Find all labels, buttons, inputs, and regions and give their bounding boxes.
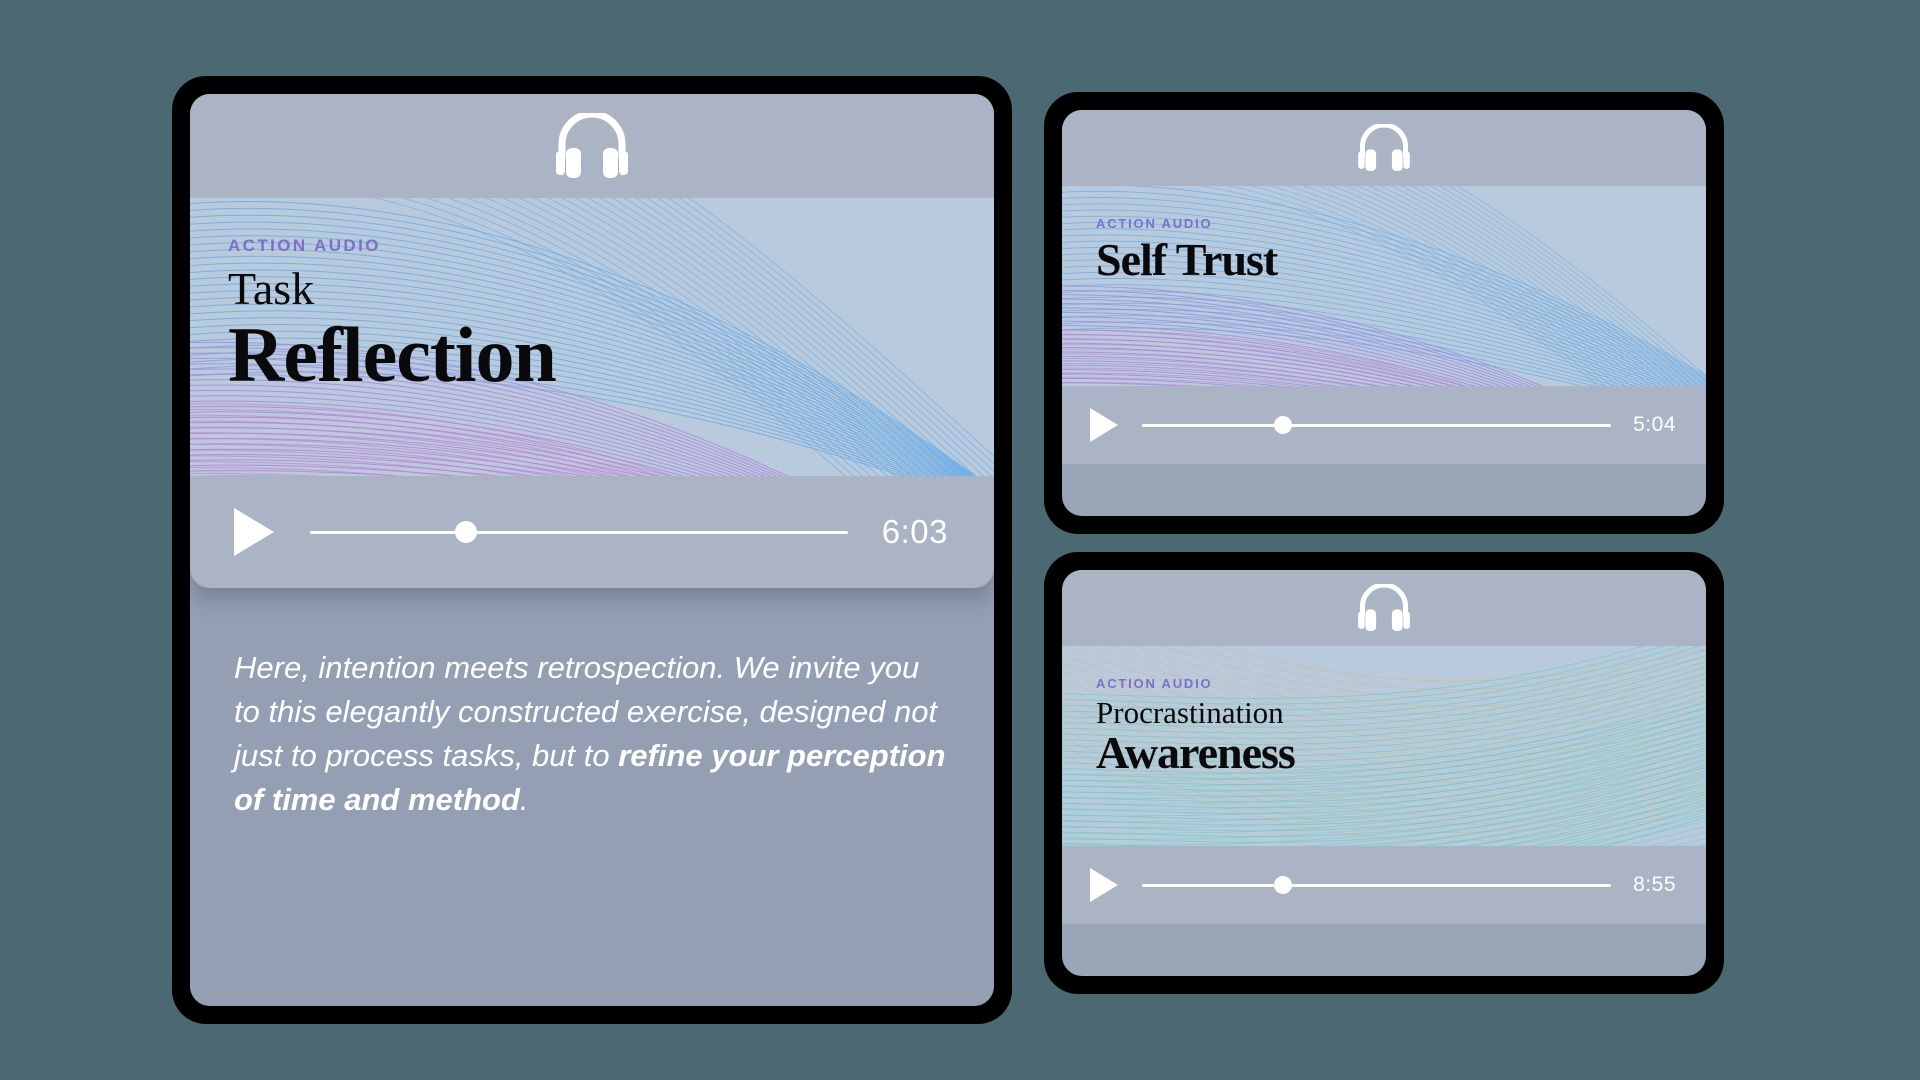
card-header-strip bbox=[1062, 110, 1706, 186]
headphones-icon bbox=[1356, 584, 1412, 632]
card-title-top: Task bbox=[228, 266, 556, 312]
card-title-main: Awareness bbox=[1096, 730, 1295, 776]
description-tail: . bbox=[520, 782, 529, 817]
play-icon[interactable] bbox=[1090, 868, 1118, 902]
duration-label: 5:04 bbox=[1633, 413, 1676, 437]
headphones-icon bbox=[553, 113, 631, 179]
card-title-main: Self Trust bbox=[1096, 237, 1277, 283]
audio-player-controls[interactable]: 6:03 bbox=[190, 476, 994, 588]
card-artwork: ACTION AUDIO Self Trust bbox=[1062, 186, 1706, 386]
card-header-strip bbox=[1062, 570, 1706, 646]
card-eyebrow: ACTION AUDIO bbox=[228, 236, 556, 256]
progress-track-line bbox=[1142, 884, 1611, 887]
progress-track[interactable] bbox=[310, 521, 848, 543]
play-icon[interactable] bbox=[234, 508, 274, 556]
duration-label: 6:03 bbox=[882, 513, 948, 551]
card-description: Here, intention meets retrospection. We … bbox=[234, 646, 950, 822]
progress-track[interactable] bbox=[1142, 414, 1611, 436]
progress-thumb[interactable] bbox=[1274, 876, 1292, 894]
progress-track[interactable] bbox=[1142, 874, 1611, 896]
card-eyebrow: ACTION AUDIO bbox=[1096, 676, 1295, 691]
duration-label: 8:55 bbox=[1633, 873, 1676, 897]
card-eyebrow: ACTION AUDIO bbox=[1096, 216, 1277, 231]
card-artwork: ACTION AUDIO Procrastination Awareness bbox=[1062, 646, 1706, 846]
card-title-block: ACTION AUDIO Self Trust bbox=[1062, 186, 1277, 283]
description-panel: Here, intention meets retrospection. We … bbox=[190, 588, 994, 1006]
card-title-block: ACTION AUDIO Procrastination Awareness bbox=[1062, 646, 1295, 776]
self-trust-card-frame: ACTION AUDIO Self Trust 5:04 bbox=[1044, 92, 1724, 534]
card-header-strip bbox=[190, 94, 994, 198]
headphones-icon bbox=[1356, 124, 1412, 172]
main-card-frame: ACTION AUDIO Task Reflection 6:03 Here, … bbox=[172, 76, 1012, 1024]
card-task-reflection[interactable]: ACTION AUDIO Task Reflection 6:03 Here, … bbox=[190, 94, 994, 1006]
player-panel: ACTION AUDIO Task Reflection 6:03 bbox=[190, 94, 994, 588]
card-artwork: ACTION AUDIO Task Reflection bbox=[190, 198, 994, 476]
card-title-main: Reflection bbox=[228, 316, 556, 394]
card-title-block: ACTION AUDIO Task Reflection bbox=[190, 198, 556, 394]
audio-player-controls[interactable]: 8:55 bbox=[1062, 846, 1706, 924]
card-title-top: Procrastination bbox=[1096, 697, 1295, 728]
progress-track-line bbox=[1142, 424, 1611, 427]
procrastination-card-frame: ACTION AUDIO Procrastination Awareness 8… bbox=[1044, 552, 1724, 994]
audio-player-controls[interactable]: 5:04 bbox=[1062, 386, 1706, 464]
card-self-trust[interactable]: ACTION AUDIO Self Trust 5:04 bbox=[1062, 110, 1706, 516]
card-procrastination-awareness[interactable]: ACTION AUDIO Procrastination Awareness 8… bbox=[1062, 570, 1706, 976]
progress-thumb[interactable] bbox=[455, 521, 477, 543]
play-icon[interactable] bbox=[1090, 408, 1118, 442]
progress-track-line bbox=[310, 531, 848, 534]
progress-thumb[interactable] bbox=[1274, 416, 1292, 434]
